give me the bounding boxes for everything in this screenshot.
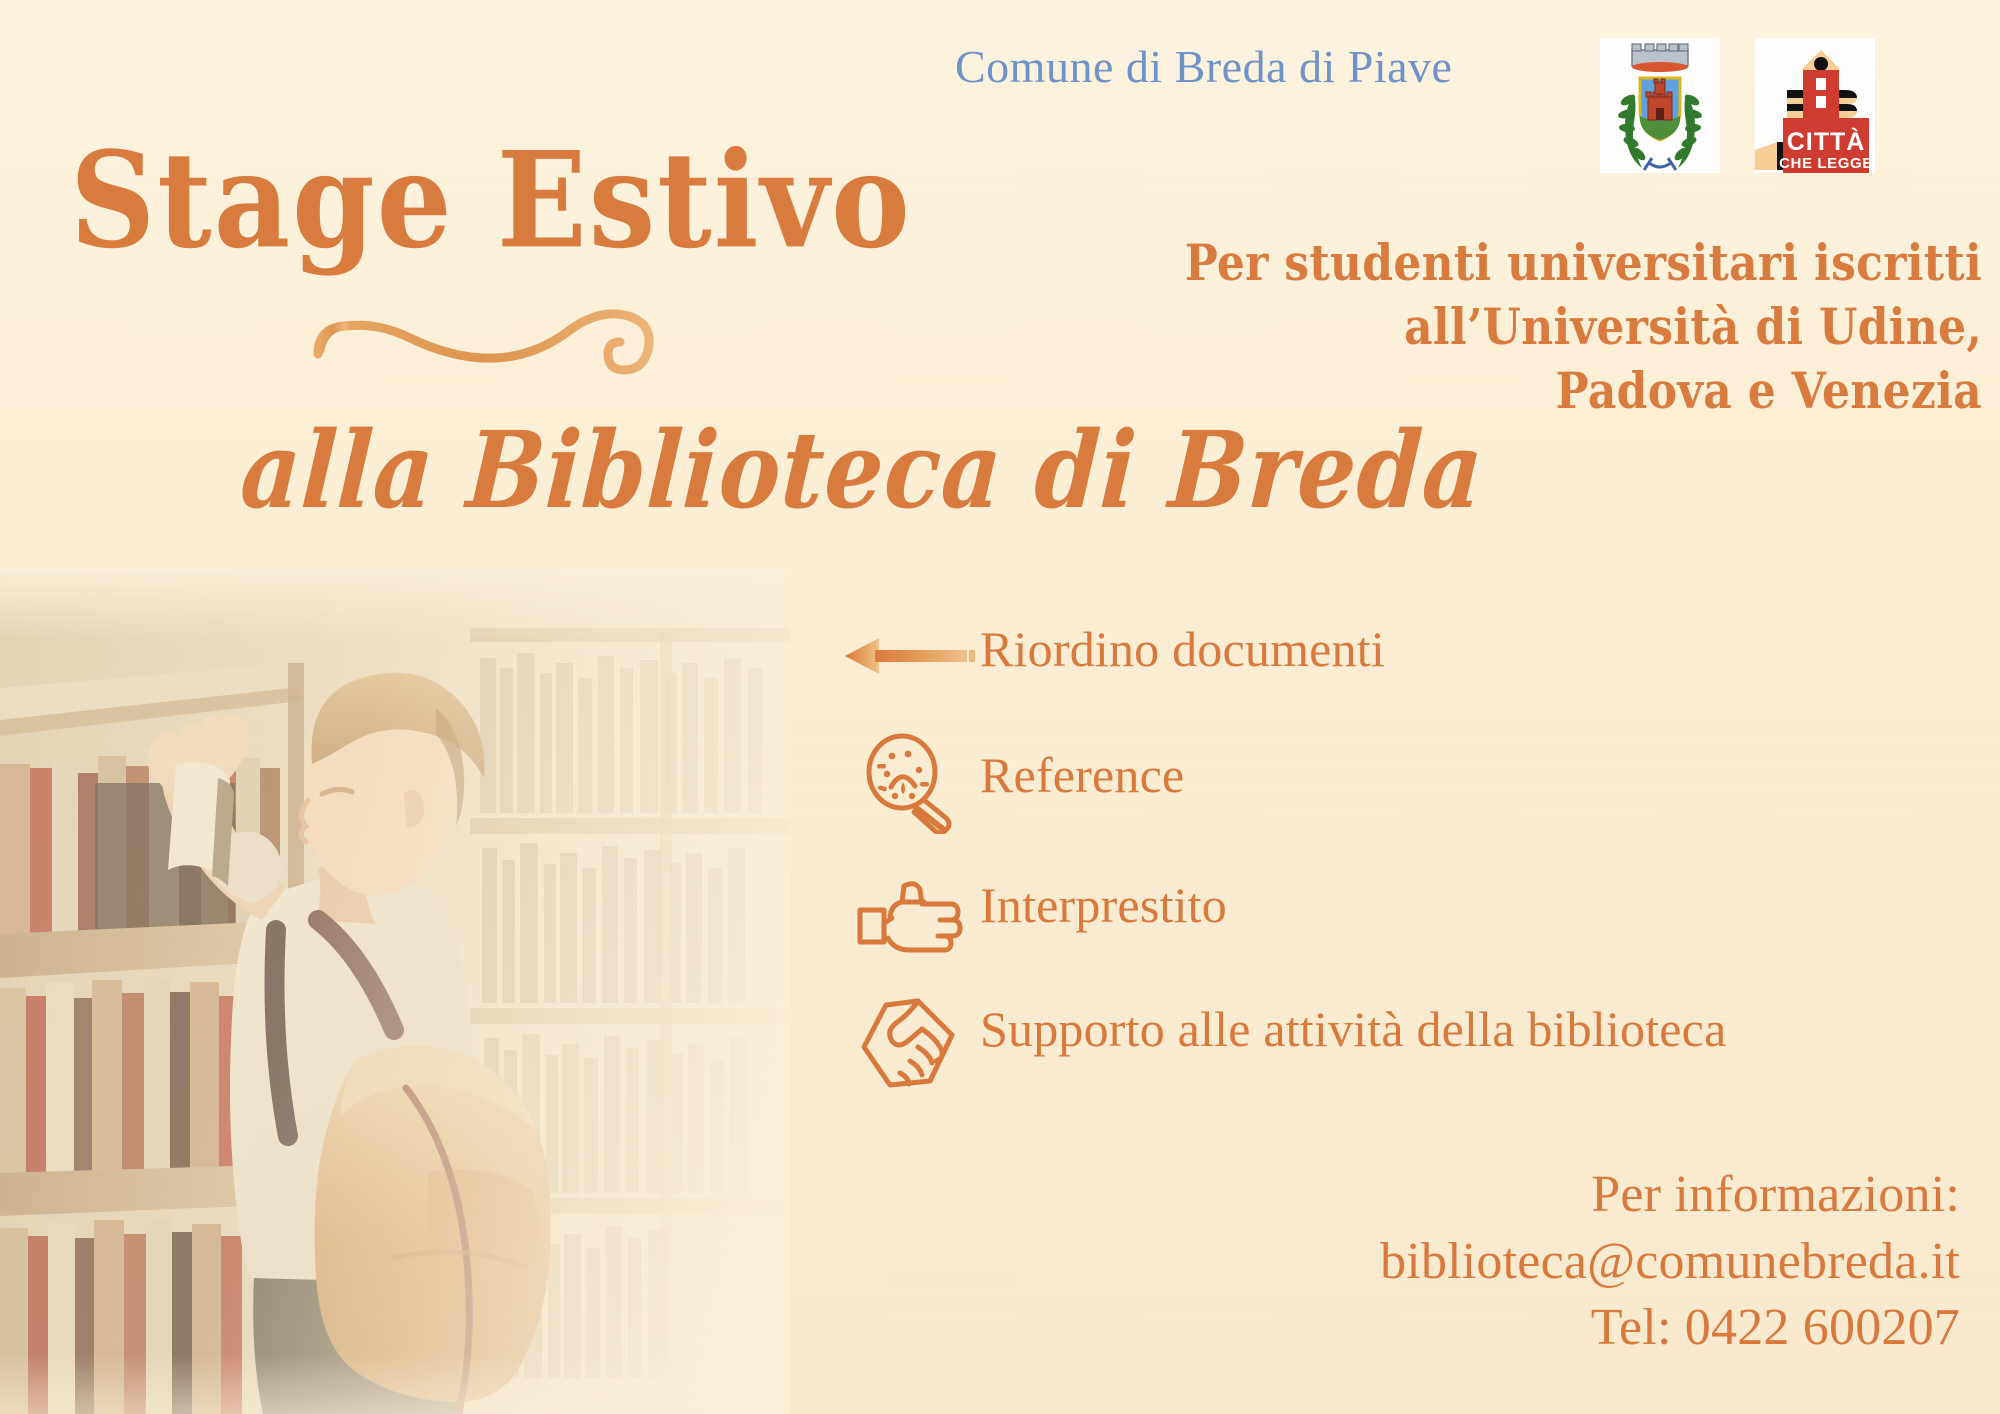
svg-text:CHE LEGGE: CHE LEGGE <box>1779 155 1873 172</box>
magnifier-svg <box>858 730 962 834</box>
stemma-comune-logo <box>1600 38 1720 173</box>
task-item-reference: Reference <box>840 740 1920 824</box>
magnifier-icon <box>840 740 980 824</box>
eligibility-text: Per studenti universitari iscritti all’U… <box>1062 232 1982 424</box>
contact-heading: Per informazioni: <box>1380 1162 1960 1229</box>
task-item-supporto: Supporto alle attività della biblioteca <box>840 1000 1920 1084</box>
task-label-supporto: Supporto alle attività della biblioteca <box>980 1000 1920 1059</box>
page-subtitle: alla Biblioteca di Breda <box>237 408 1487 532</box>
svg-text:CITTÀ: CITTÀ <box>1787 127 1866 156</box>
task-label-interprestito: Interprestito <box>980 870 1920 935</box>
library-photo-illustration <box>0 568 790 1414</box>
eligibility-line-2: all’Università di Udine, <box>1062 296 1982 360</box>
task-list: Riordino documenti <box>840 614 1920 1084</box>
library-photo <box>0 568 790 1414</box>
citta-che-legge-icon: CITTÀ CHE LEGGE <box>1755 38 1875 173</box>
stemma-comune-icon <box>1600 38 1720 173</box>
task-label-riordino: Riordino documenti <box>980 614 1920 679</box>
handshake-icon <box>840 1000 980 1084</box>
task-label-reference: Reference <box>980 740 1920 805</box>
handshake-svg <box>856 989 964 1095</box>
eligibility-line-1: Per studenti universitari iscritti <box>1062 232 1982 296</box>
contact-email[interactable]: biblioteca@comunebreda.it <box>1380 1229 1960 1296</box>
task-item-riordino: Riordino documenti <box>840 614 1920 698</box>
citta-che-legge-logo: CITTÀ CHE LEGGE <box>1755 38 1875 173</box>
hand-transfer-svg <box>856 866 964 958</box>
poster-canvas: Comune di Breda di Piave <box>0 0 2000 1414</box>
left-arrow-svg <box>845 633 975 679</box>
flourish-ornament-svg <box>310 300 790 380</box>
eligibility-line-3: Padova e Venezia <box>1062 360 1982 424</box>
comune-label: Comune di Breda di Piave <box>955 40 1452 93</box>
left-arrow-icon <box>840 614 980 698</box>
contact-block: Per informazioni: biblioteca@comunebreda… <box>1380 1162 1960 1362</box>
flourish-ornament-icon <box>310 300 790 380</box>
page-title: Stage Estivo <box>70 122 912 278</box>
task-item-interprestito: Interprestito <box>840 870 1920 954</box>
contact-phone[interactable]: Tel: 0422 600207 <box>1380 1295 1960 1362</box>
hand-transfer-icon <box>840 870 980 954</box>
